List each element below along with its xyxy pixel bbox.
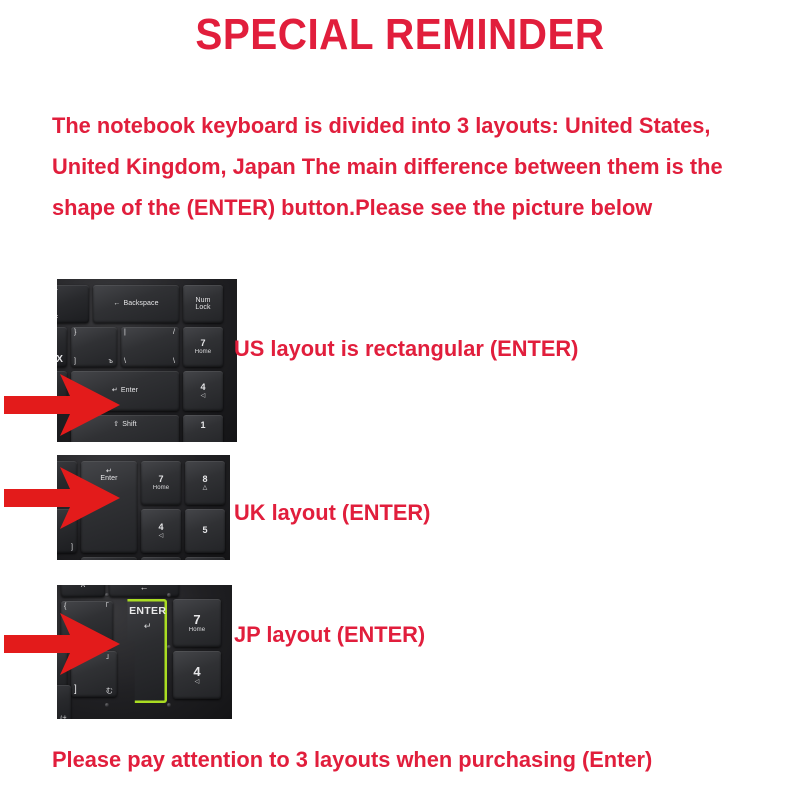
key-bracket-close-label-jp: ] [74, 685, 77, 696]
key-enter-uk: ↵ Enter [81, 461, 137, 553]
key-num7-jp-label: 7 [193, 613, 200, 627]
enter-arrow-icon: ↵ [112, 387, 118, 394]
key-cyrillic-e-label: э [58, 399, 63, 410]
key-shift-label: Shift [122, 421, 137, 428]
key-num-7-home-jp: 7 Home [173, 599, 221, 647]
backspace-arrow-icon: ← [113, 300, 120, 307]
keyboard-photo-jp: ^ ← { 「 「 ENTER ↵ 7 Home [57, 585, 232, 719]
key-num-1-uk: 1 [141, 557, 181, 560]
backspace-arrow-icon-jp: ← [139, 585, 148, 593]
key-backslash-alt-label: \ [173, 358, 175, 365]
key-num8-uk-label: 8 [202, 475, 207, 484]
key-bracket-uk-label: ] [71, 544, 73, 551]
key-cyrillic-e: э [57, 371, 67, 411]
key-num4-jp-sub-icon: ◁ [195, 679, 200, 685]
key-slash-label: / [173, 329, 175, 336]
intro-paragraph: The notebook keyboard is divided into 3 … [52, 105, 750, 228]
key-hash-label: # [69, 496, 73, 503]
key-cyrillic-hard-label: ъ [109, 358, 113, 365]
key-brace-close-label-jp: } [74, 653, 76, 660]
screw-dot [167, 645, 171, 649]
screw-dot [167, 703, 171, 707]
enter-arrow-icon-uk: ↵ [106, 468, 112, 475]
key-numlock-line1: Num [195, 297, 210, 304]
key-backspace: ← Backspace [93, 285, 179, 323]
keyboard-photo-uk: # ] ↵ Enter 7 Home 8 [57, 455, 230, 560]
key-num7-uk-label: 7 [158, 475, 163, 484]
key-bracket-close-label: ] [74, 358, 76, 365]
key-num7-uk-sub: Home [153, 485, 169, 491]
key-num1-label: 1 [200, 421, 205, 430]
key-kagi-close-label: 」 [106, 653, 113, 660]
key-shift: ⇧ Shift [71, 415, 179, 442]
key-num7-sub-label: Home [195, 349, 211, 355]
enter-arrow-icon-jp: ↵ [128, 621, 167, 632]
key-kagi-open-label: 「 [64, 638, 71, 645]
footer-note: Please pay attention to 3 layouts when p… [52, 747, 760, 773]
key-pipe-label: | [124, 329, 126, 336]
key-num4-uk-label: 4 [158, 523, 163, 532]
key-plus-equals: + = [57, 285, 89, 323]
key-caret-jp: ^ [61, 585, 105, 597]
key-num-8-up-uk: 8 △ [185, 461, 225, 505]
key-num4-sub-icon: ◁ [201, 393, 206, 399]
key-num7-jp-sub: Home [189, 627, 205, 633]
key-num-4-left: 4 ◁ [183, 371, 223, 411]
key-num-7-home: 7 Home [183, 327, 223, 367]
key-enter-jp: ENTER ↵ [121, 599, 167, 703]
key-num7-label: 7 [200, 339, 205, 348]
key-num4-uk-sub-icon: ◁ [159, 533, 164, 539]
key-brace-close-label: } [74, 329, 76, 336]
key-num4-jp-label: 4 [193, 665, 200, 679]
key-plus-label: + [57, 287, 58, 294]
key-backslash-label: \ [124, 358, 126, 365]
key-brace-kagi-open-jp: { 「 「 [61, 601, 113, 647]
page-title: SPECIAL REMINDER [32, 12, 768, 58]
key-num-2-uk: 2 [185, 557, 225, 560]
key-num4-label: 4 [200, 383, 205, 392]
reminder-page: SPECIAL REMINDER The notebook keyboard i… [0, 0, 800, 800]
key-mu-label: む [106, 688, 113, 695]
screw-dot [167, 593, 171, 597]
caption-uk: UK layout (ENTER) [234, 500, 430, 526]
key-num-lock: Num Lock [183, 285, 223, 323]
key-bracket-uk: ] [57, 509, 77, 553]
key-enter-uk-label: Enter [100, 475, 117, 482]
key-hash-uk: # [57, 461, 77, 505]
key-num-4-left-jp: 4 ◁ [173, 651, 221, 699]
screw-dot [105, 703, 109, 707]
key-ke-jp: け [57, 685, 71, 719]
caption-jp: JP layout (ENTER) [234, 622, 425, 648]
key-num-1: 1 [183, 415, 223, 442]
key-enter-label: Enter [121, 387, 138, 394]
keyboard-photo-us: + = ← Backspace Num Lock X } [57, 279, 237, 442]
key-x-label: X [57, 355, 63, 366]
key-bracket-mu-jp: } ] 」 む [71, 651, 117, 697]
screw-dot [105, 645, 109, 649]
screw-dot [105, 593, 109, 597]
key-num-4-left-uk: 4 ◁ [141, 509, 181, 553]
shift-arrow-icon: ⇧ [113, 421, 119, 428]
caption-us: US layout is rectangular (ENTER) [234, 336, 578, 362]
key-ke-label: け [60, 716, 67, 719]
key-enter-us: ↵ Enter [71, 371, 179, 411]
key-x: X [57, 327, 67, 367]
key-num-5-uk: 5 [185, 509, 225, 553]
key-num5-uk-label: 5 [202, 526, 207, 535]
key-num8-uk-sub-icon: △ [203, 485, 208, 491]
key-enter-jp-label: ENTER [128, 605, 167, 617]
key-num-7-home-uk: 7 Home [141, 461, 181, 505]
key-equals-label: = [57, 314, 58, 321]
key-backspace-label: Backspace [123, 300, 158, 307]
key-caret-label: ^ [81, 585, 85, 593]
key-shift-uk: Shift [81, 557, 137, 560]
key-kagi-open-alt-label: 「 [102, 603, 109, 610]
key-brace-open-label: { [64, 603, 66, 610]
key-numlock-line2: Lock [195, 304, 210, 311]
key-backslash-pipe: | \ / \ [121, 327, 179, 367]
key-bracket-close: } ] ъ [71, 327, 117, 367]
